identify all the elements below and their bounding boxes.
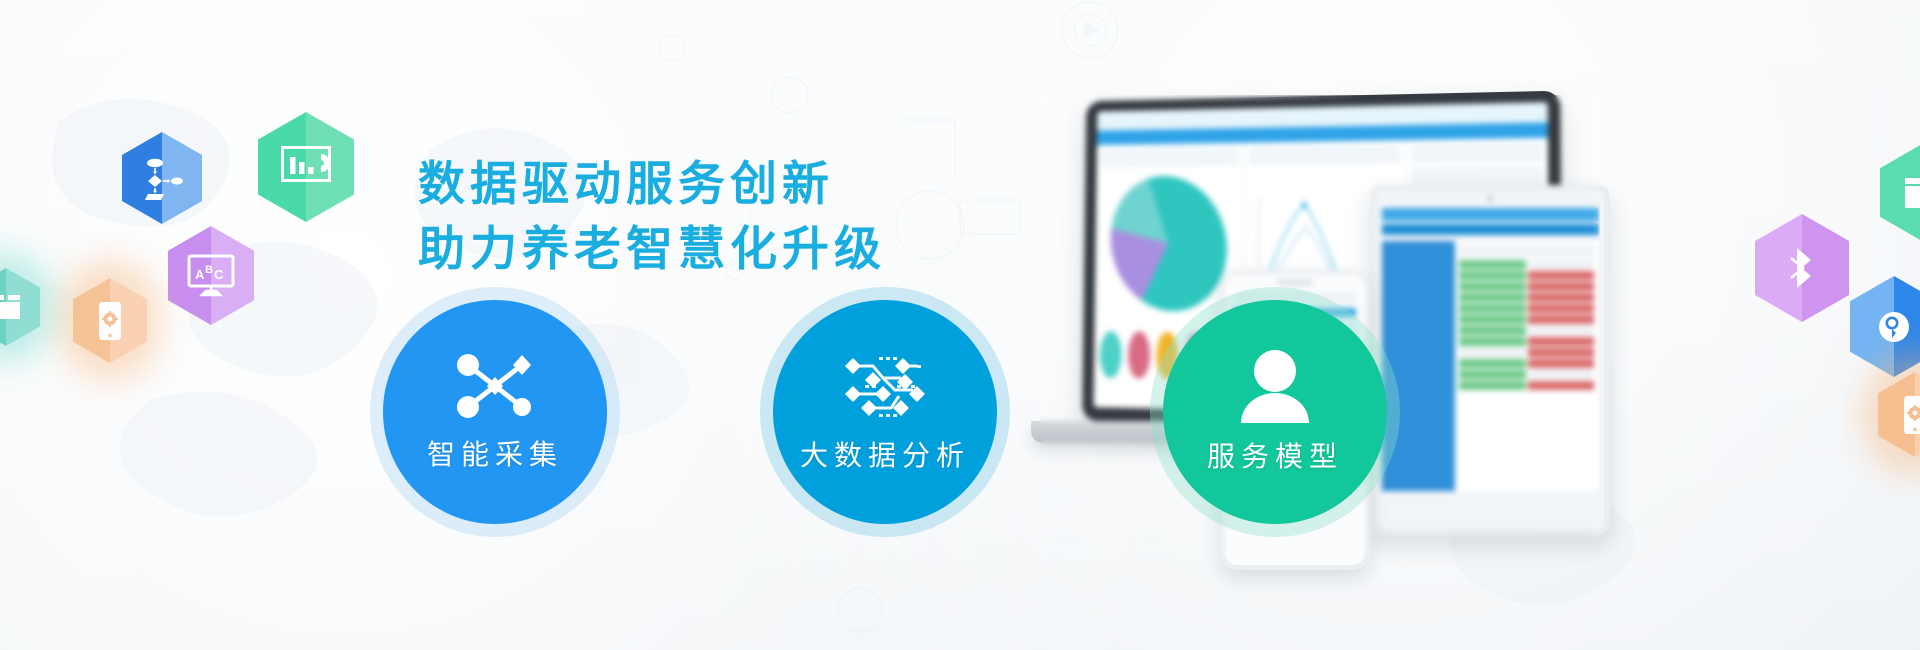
hex-badge-abc-monitor: A B C [168, 226, 254, 325]
feature-circle-service-model[interactable]: 服务模型 [1150, 287, 1400, 537]
phone-gear-icon [96, 300, 124, 342]
tablet-table [1455, 241, 1598, 491]
monitor-abc-icon: A B C [187, 254, 235, 298]
feature-circle-big-data-analysis[interactable]: 大数据分析 [760, 287, 1010, 537]
user-person-icon [1239, 349, 1311, 423]
feature-circle-smart-collection[interactable]: 智能采集 [370, 287, 620, 537]
hex-badge-panel-right [1880, 144, 1920, 241]
bar-chart-icon [281, 146, 331, 188]
hex-badge-panel-left-edge [0, 268, 40, 346]
tablet-report [1370, 185, 1610, 535]
panel-icon [0, 293, 22, 321]
feature-label-smart-collection: 智能采集 [427, 433, 563, 473]
network-nodes-icon [452, 351, 538, 421]
svg-text:B: B [205, 264, 213, 276]
page-title: 数据驱动服务创新 助力养老智慧化升级 [418, 152, 886, 282]
hex-badge-bar-chart [258, 112, 354, 222]
flowchart-icon [140, 156, 184, 200]
headline-line-2: 助力养老智慧化升级 [418, 217, 886, 282]
hero-banner: A B C [0, 0, 1920, 650]
feature-label-big-data-analysis: 大数据分析 [800, 434, 970, 474]
svg-text:C: C [214, 267, 224, 282]
phone-gear-icon [1901, 394, 1920, 436]
feature-label-service-model: 服务模型 [1207, 435, 1343, 475]
panel-icon [1903, 176, 1920, 210]
circuit-flow-icon [839, 350, 931, 422]
hex-badge-phone-gear-right [1878, 372, 1920, 457]
svg-text:A: A [195, 267, 205, 282]
headline-line-1: 数据驱动服务创新 [418, 152, 886, 217]
bluetooth-icon [1785, 244, 1819, 292]
hex-badge-bluetooth [1755, 214, 1849, 322]
search-pin-icon [1873, 306, 1915, 348]
hex-badge-flowchart [122, 132, 202, 224]
tablet-sidebar [1382, 241, 1455, 491]
hex-badge-phone-gear-left [73, 278, 147, 363]
